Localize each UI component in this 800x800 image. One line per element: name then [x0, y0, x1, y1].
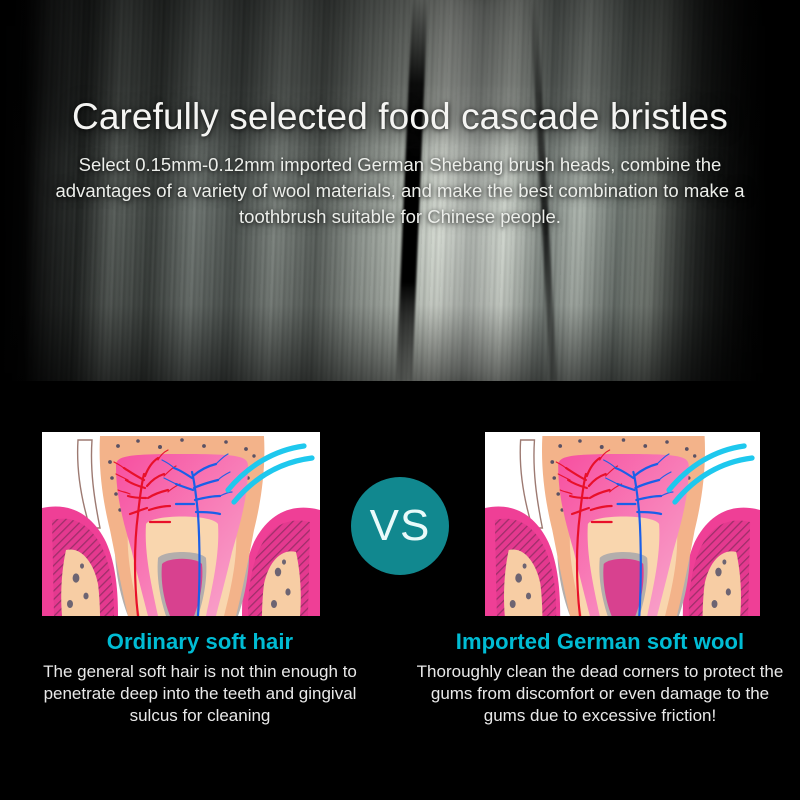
left-tooth-image	[42, 432, 320, 616]
tooth-cross-section-diagram-left	[42, 432, 320, 616]
hero-text-block: Carefully selected food cascade bristles…	[0, 0, 800, 230]
left-description: The general soft hair is not thin enough…	[30, 661, 370, 727]
right-heading: Imported German soft wool	[400, 629, 800, 655]
page-title: Carefully selected food cascade bristles	[0, 96, 800, 138]
right-tooth-image	[485, 432, 760, 616]
left-caption-column: Ordinary soft hair The general soft hair…	[0, 629, 400, 727]
left-heading: Ordinary soft hair	[0, 629, 400, 655]
comparison-section: VS	[0, 381, 800, 800]
vs-badge: VS	[351, 477, 449, 575]
right-description: Thoroughly clean the dead corners to pro…	[411, 661, 789, 727]
hero-section: Carefully selected food cascade bristles…	[0, 0, 800, 381]
page-subtitle: Select 0.15mm-0.12mm imported German She…	[50, 152, 750, 230]
tooth-cross-section-diagram-right	[485, 432, 760, 616]
right-caption-column: Imported German soft wool Thoroughly cle…	[400, 629, 800, 727]
vs-label: VS	[370, 504, 431, 548]
